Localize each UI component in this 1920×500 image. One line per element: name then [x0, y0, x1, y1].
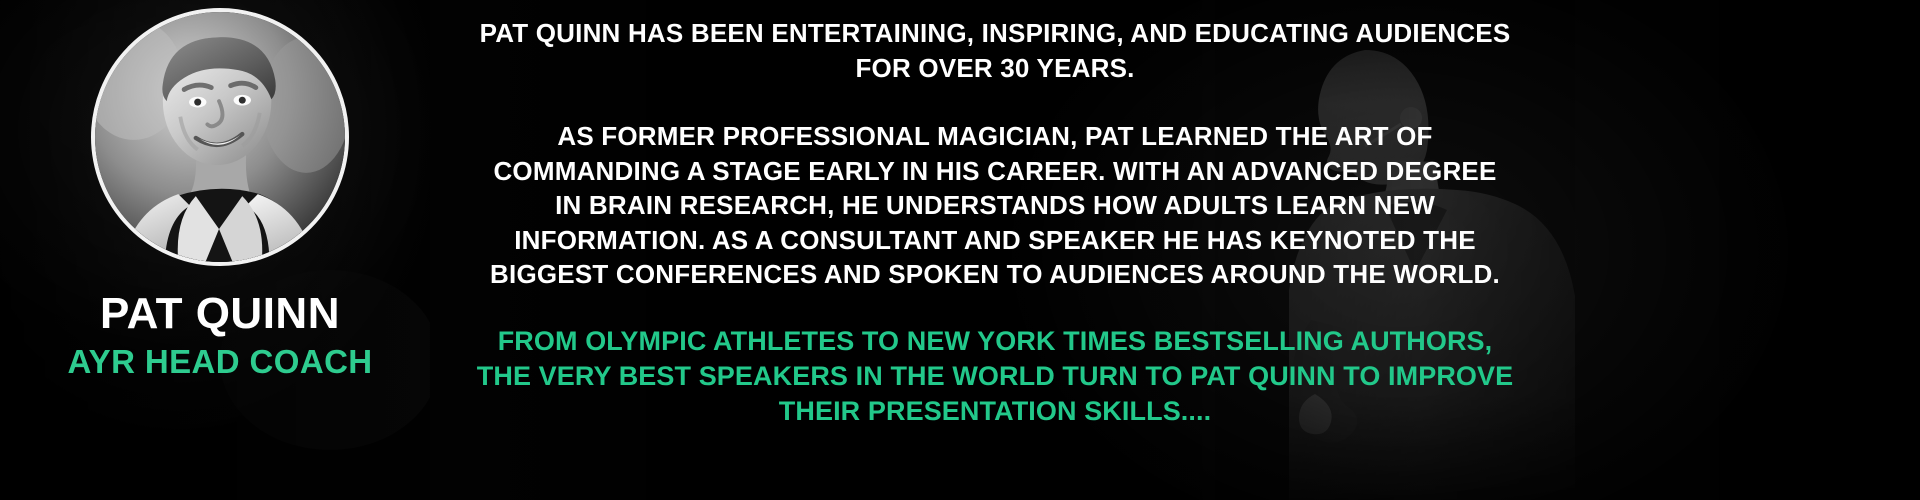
bio-paragraph-lead: PAT QUINN HAS BEEN ENTERTAINING, INSPIRI… — [478, 16, 1513, 85]
bio-copy-block: PAT QUINN HAS BEEN ENTERTAINING, INSPIRI… — [460, 0, 1530, 500]
avatar — [91, 8, 349, 266]
avatar-portrait-image — [95, 12, 345, 262]
profile-role: AYR HEAD COACH — [67, 345, 372, 378]
profile-block: PAT QUINN AYR HEAD COACH — [0, 0, 440, 500]
speaker-bio-banner: PAT QUINN AYR HEAD COACH PAT QUINN HAS B… — [0, 0, 1920, 500]
bio-paragraph-body: AS FORMER PROFESSIONAL MAGICIAN, PAT LEA… — [478, 119, 1513, 292]
bio-paragraph-highlight: FROM OLYMPIC ATHLETES TO NEW YORK TIMES … — [473, 324, 1518, 429]
profile-name: PAT QUINN — [100, 292, 340, 336]
